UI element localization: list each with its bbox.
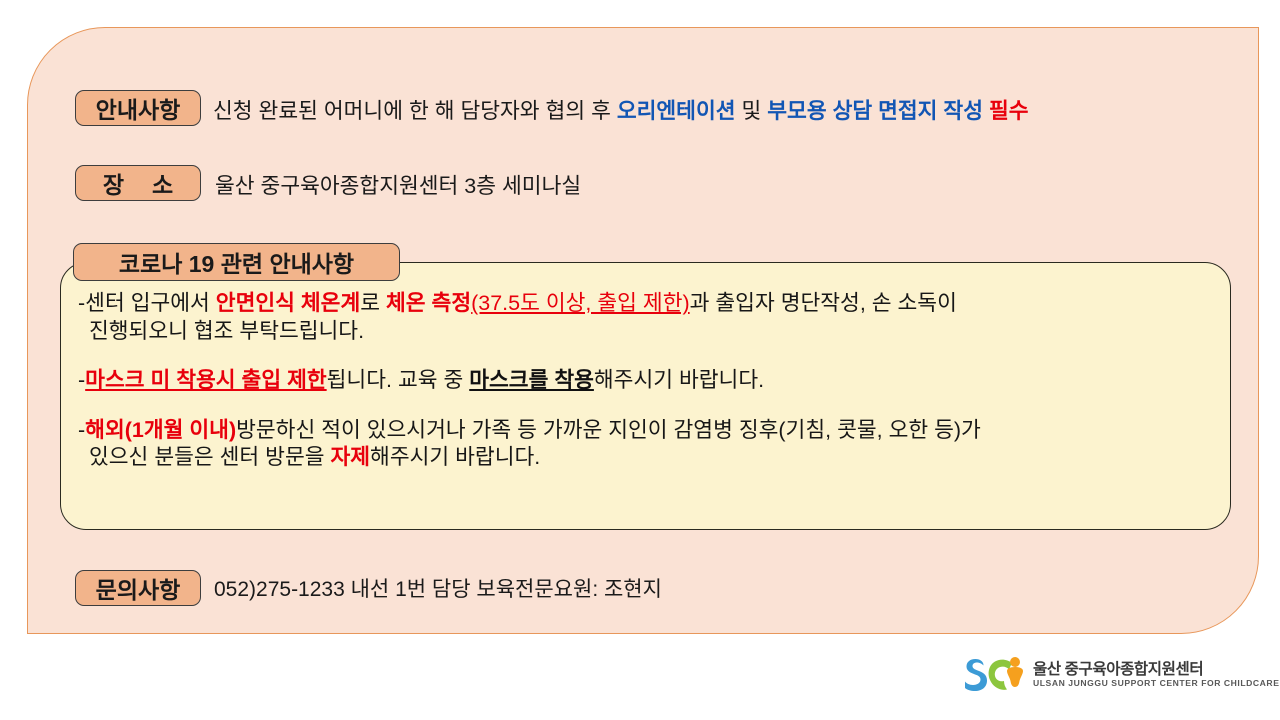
corona-3-line2: 있으신 분들은 센터 방문을 자제해주시기 바랍니다.: [78, 444, 1213, 472]
corona-1-p1-thermometer: 안면인식 체온계: [216, 291, 360, 315]
organization-logo: 울산 중구육아종합지원센터 ULSAN JUNGGU SUPPORT CENTE…: [963, 652, 1263, 698]
corona-notice-content: -센터 입구에서 안면인식 체온계로 체온 측정(37.5도 이상, 출입 제한…: [60, 262, 1231, 530]
corona-3-l2-p1-refrain: 자제: [330, 445, 370, 469]
notice-part-2: 및: [736, 99, 768, 123]
corona-3-l2-p0: 있으신 분들은 센터 방문을: [89, 445, 330, 469]
corona-label-pill: 코로나 19 관련 안내사항: [73, 243, 400, 281]
logo-name-korean: 울산 중구육아종합지원센터: [1033, 662, 1279, 678]
notice-part-0: 신청 완료된 어머니에 한 해 담당자와 협의 후: [213, 99, 617, 123]
notice-part-3-interview-sheet: 부모용 상담 면접지 작성: [767, 99, 983, 123]
corona-2-p3-wear-mask: 마스크를 착용: [469, 368, 594, 392]
corona-item-1: -센터 입구에서 안면인식 체온계로 체온 측정(37.5도 이상, 출입 제한…: [78, 290, 1213, 345]
logo-text-block: 울산 중구육아종합지원센터 ULSAN JUNGGU SUPPORT CENTE…: [1033, 662, 1279, 688]
corona-1-p4-threshold: (37.5도 이상, 출입 제한): [471, 291, 690, 315]
corona-2-p4: 해주시기 바랍니다.: [594, 368, 764, 392]
notice-part-1-orientation: 오리엔테이션: [617, 99, 736, 123]
corona-item-2: -마스크 미 착용시 출입 제한됩니다. 교육 중 마스크를 착용해주시기 바랍…: [78, 367, 1213, 395]
corona-2-p2: 됩니다. 교육 중: [327, 368, 470, 392]
corona-item-3: -해외(1개월 이내)방문하신 적이 있으시거나 가족 등 가까운 지인이 감염…: [78, 417, 1213, 472]
place-label-char-2: 소: [152, 166, 173, 200]
corona-3-l2-p2: 해주시기 바랍니다.: [370, 445, 540, 469]
corona-1-p2: 로: [360, 291, 386, 315]
corona-label-text: 코로나 19 관련 안내사항: [119, 245, 354, 279]
sc-childcare-logo-icon: [963, 655, 1025, 695]
notice-body-text: 신청 완료된 어머니에 한 해 담당자와 협의 후 오리엔테이션 및 부모용 상…: [213, 99, 1029, 124]
corona-3-p2: 방문하신 적이 있으시거나 가족 등 가까운 지인이 감염병 징후(기침, 콧물…: [236, 418, 981, 442]
corona-1-line2: 진행되오니 협조 부탁드립니다.: [78, 318, 1213, 346]
place-label-pill: 장소: [75, 165, 201, 201]
corona-1-p5: 과 출입자 명단작성, 손 소독이: [690, 291, 957, 315]
contact-body-text: 052)275-1233 내선 1번 담당 보육전문요원: 조현지: [214, 578, 662, 602]
logo-name-english: ULSAN JUNGGU SUPPORT CENTER FOR CHILDCAR…: [1033, 679, 1279, 688]
contact-label-text: 문의사항: [96, 571, 181, 605]
corona-2-p1-mask-required: 마스크 미 착용시 출입 제한: [85, 368, 326, 392]
notice-part-5-required: 필수: [989, 99, 1029, 123]
notice-label-text: 안내사항: [96, 91, 181, 125]
corona-1-p0: -센터 입구에서: [78, 291, 216, 315]
corona-3-p1-overseas: 해외(1개월 이내): [85, 418, 236, 442]
notice-label-pill: 안내사항: [75, 90, 201, 126]
place-label-char-1: 장: [103, 166, 124, 200]
slide-canvas: 안내사항 신청 완료된 어머니에 한 해 담당자와 협의 후 오리엔테이션 및 …: [0, 0, 1280, 720]
contact-label-pill: 문의사항: [75, 570, 201, 606]
place-body-text: 울산 중구육아종합지원센터 3층 세미나실: [215, 174, 581, 199]
corona-1-p3-temp-check: 체온 측정: [386, 291, 471, 315]
